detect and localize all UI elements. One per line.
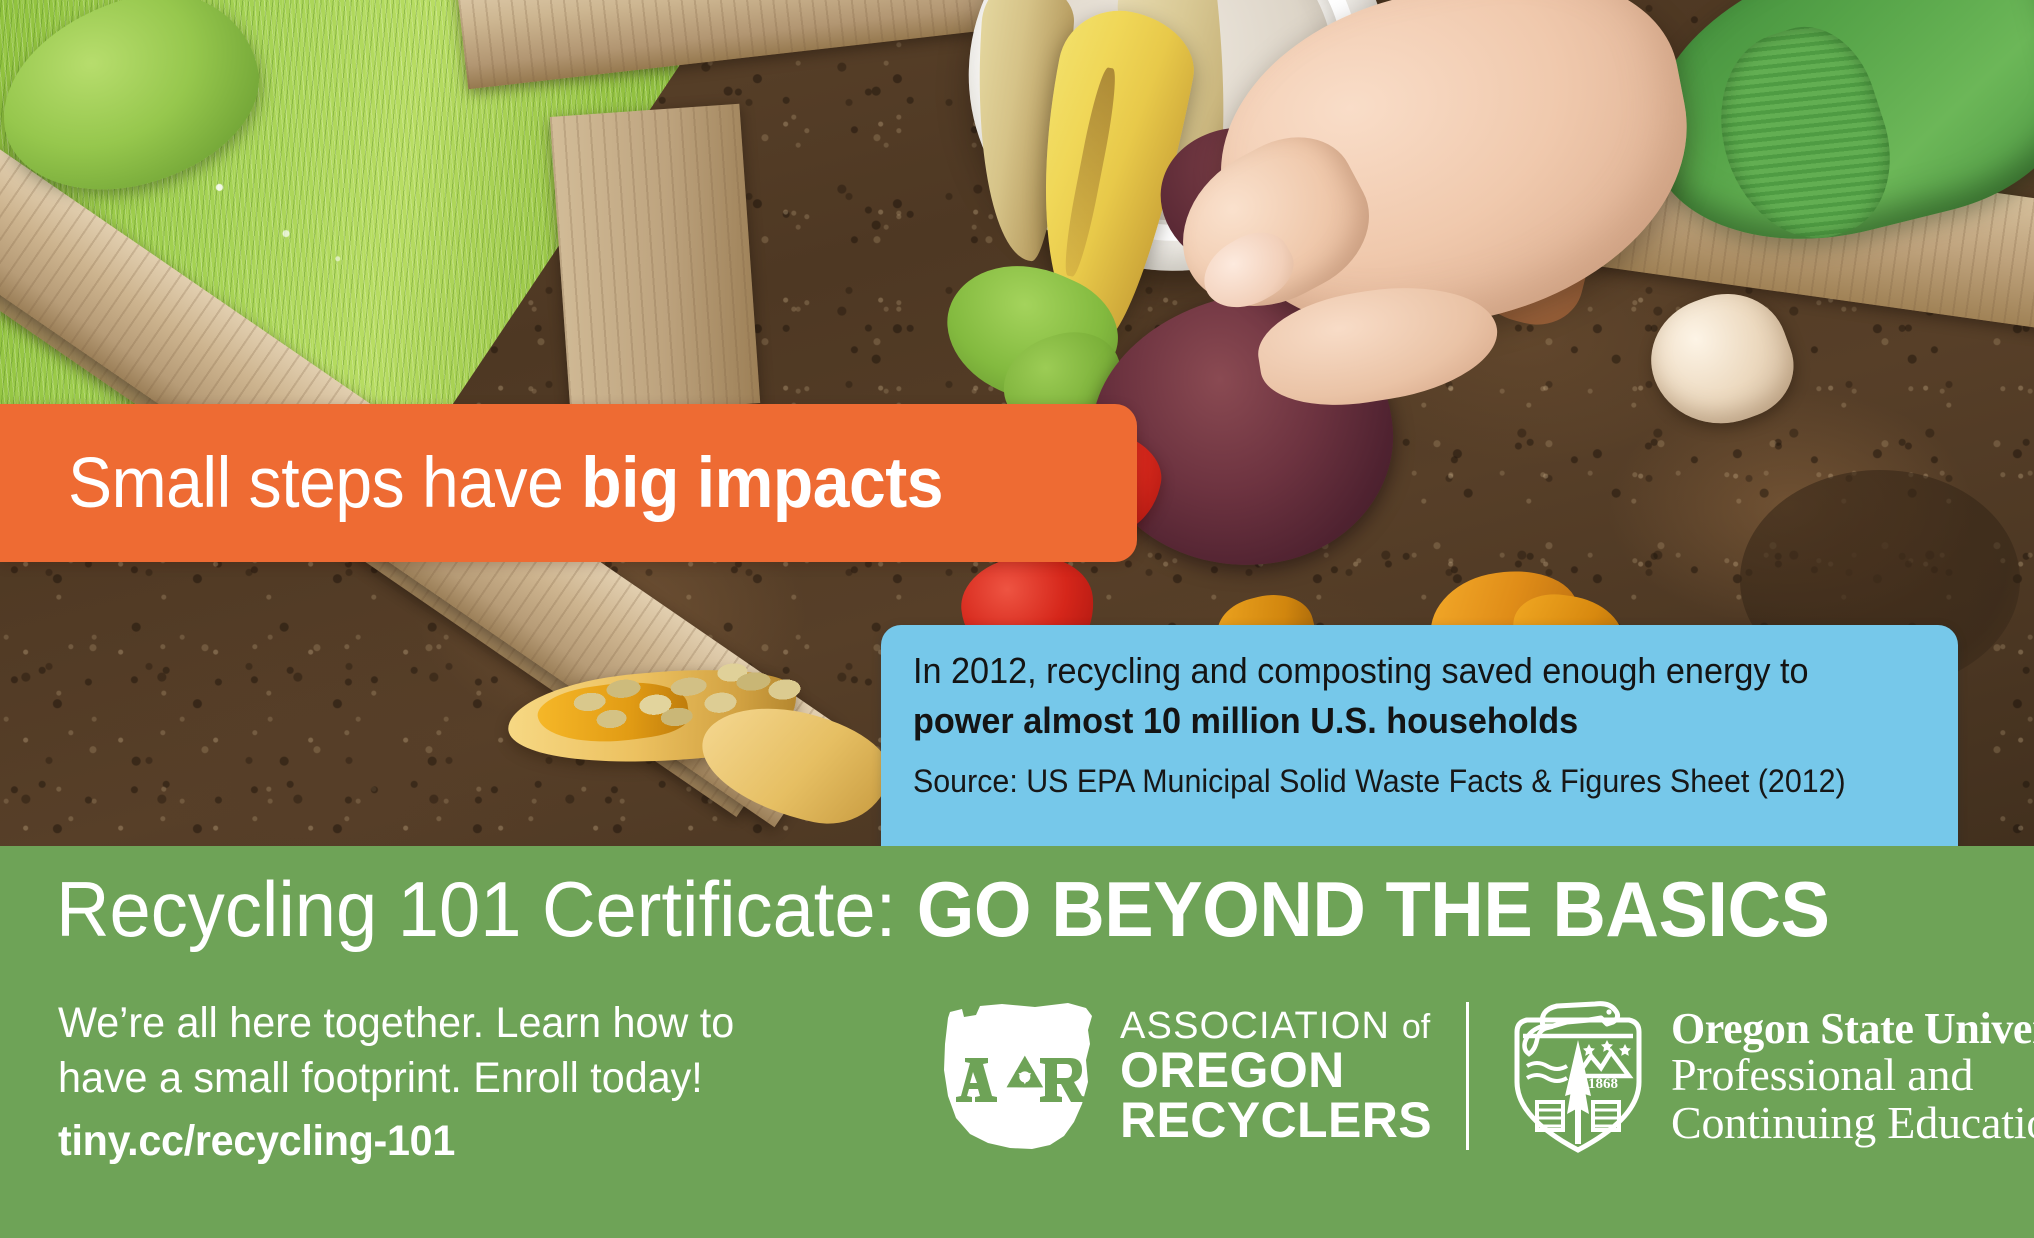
aor-logo[interactable]: ASSOCIATION of OREGON RECYCLERS [940,1000,1432,1152]
course-title: Recycling 101 Certificate: GO BEYOND THE… [56,870,1830,948]
logo-row: ASSOCIATION of OREGON RECYCLERS [940,986,2034,1166]
footer-band: Recycling 101 Certificate: GO BEYOND THE… [0,846,2034,1238]
footer-copy-line-2: have a small footprint. Enroll today! [58,1051,653,1106]
osu-line-2: Professional and [1671,1051,2034,1098]
headline-banner: Small steps have big impacts [0,404,1137,562]
course-title-normal: Recycling 101 Certificate: [56,865,917,953]
fact-source-citation: Source: US EPA Municipal Solid Waste Fac… [913,764,1877,800]
fact-line-2-bold: power almost 10 million U.S. households [913,700,1877,741]
course-title-bold: GO BEYOND THE BASICS [917,865,1830,953]
aor-line-3: RECYCLERS [1120,1096,1432,1144]
footer-copy-line-1: We’re all here together. Learn how to [58,996,653,1051]
aor-of-text: of [1402,1008,1430,1046]
osu-wordmark: Oregon State University Professional and… [1671,1006,2034,1146]
footer-copy: We’re all here together. Learn how to ha… [58,996,678,1166]
osu-logo[interactable]: 1868 Oregon State University Professiona… [1503,996,2034,1156]
osu-line-3: Continuing Education [1671,1099,2034,1146]
oregon-state-outline-icon [940,1000,1102,1152]
fact-line-1: In 2012, recycling and composting saved … [913,650,1877,691]
osu-line-1: Oregon State University [1671,1006,2034,1051]
aor-wordmark: ASSOCIATION of OREGON RECYCLERS [1120,1008,1432,1144]
osu-beaver-shield-icon: 1868 [1503,996,1653,1156]
headline-normal-part: Small steps have [68,444,581,523]
headline-bold-part: big impacts [581,444,943,523]
fact-callout-box: In 2012, recycling and composting saved … [881,625,1958,846]
crest-year-text: 1868 [1588,1076,1618,1092]
promotional-poster: Small steps have big impacts In 2012, re… [0,0,2034,1238]
headline-text: Small steps have big impacts [68,448,943,519]
enrollment-url[interactable]: tiny.cc/recycling-101 [58,1117,653,1166]
aor-line-1: ASSOCIATION of [1120,1008,1432,1044]
aor-association-text: ASSOCIATION [1120,1005,1390,1047]
logo-divider [1466,1002,1469,1150]
aor-line-2: OREGON [1120,1046,1432,1094]
wooden-corner-post [550,104,760,417]
